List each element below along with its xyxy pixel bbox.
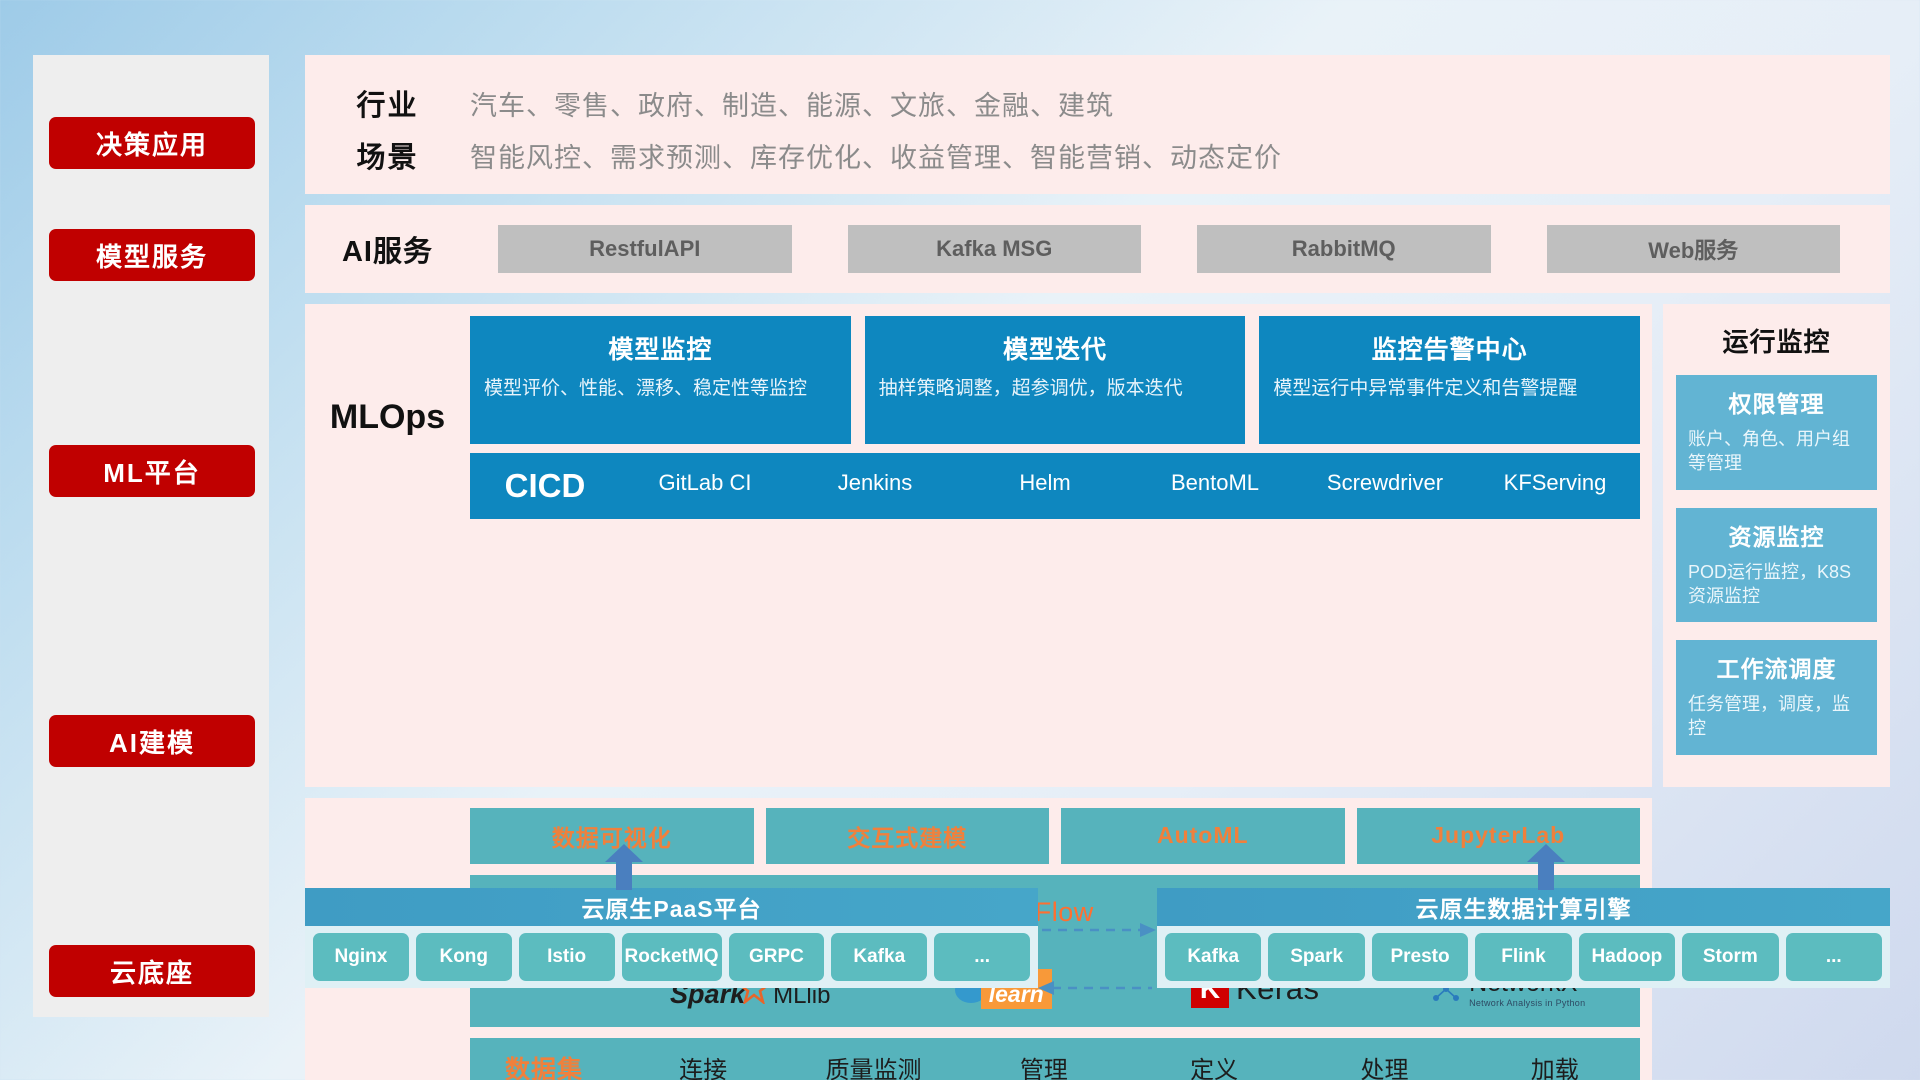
lab-tool-interactive-modeling[interactable]: 交互式建模 — [766, 808, 1050, 864]
ai-service-label: AI服务 — [305, 228, 470, 270]
industry-row: 行业 汽车、零售、政府、制造、能源、文旅、金融、建筑 — [305, 77, 1890, 129]
mlops-and-monitor-row: MLOps 模型监控 模型评价、性能、漂移、稳定性等监控 模型迭代 抽样策略调整… — [305, 304, 1890, 787]
cicd-title: CICD — [470, 453, 620, 519]
lab-tool-jupyterlab[interactable]: JupyterLab — [1357, 808, 1641, 864]
rail-label: 云底座 — [110, 953, 194, 990]
mlops-card-alert-center[interactable]: 监控告警中心 模型运行中异常事件定义和告警提醒 — [1259, 316, 1640, 444]
cloud-chip[interactable]: Kong — [416, 933, 512, 981]
ai-service-list: RestfulAPI Kafka MSG RabbitMQ Web服务 — [470, 225, 1890, 273]
dataset-title: 数据集 — [470, 1050, 618, 1080]
dataset-item[interactable]: 定义 — [1129, 1050, 1299, 1080]
rail-label: 模型服务 — [96, 237, 208, 274]
cloud-paas-title: 云原生PaaS平台 — [305, 888, 1038, 926]
card-desc: 抽样策略调整，超参调优，版本迭代 — [879, 376, 1232, 402]
bidirectional-connector — [1038, 910, 1156, 1020]
cloud-data-engine-title: 云原生数据计算引擎 — [1157, 888, 1890, 926]
cicd-item[interactable]: Helm — [960, 453, 1130, 497]
card-desc: 账户、角色、用户组等管理 — [1688, 427, 1865, 476]
card-desc: 任务管理，调度，监控 — [1688, 692, 1865, 741]
industry-label: 行业 — [305, 82, 470, 124]
rail-label: ML平台 — [103, 453, 201, 490]
mlops-band: MLOps 模型监控 模型评价、性能、漂移、稳定性等监控 模型迭代 抽样策略调整… — [305, 304, 1652, 787]
cloud-chip[interactable]: ... — [934, 933, 1030, 981]
cloud-chip[interactable]: ... — [1786, 933, 1882, 981]
cloud-chip[interactable]: Presto — [1372, 933, 1468, 981]
card-title: 监控告警中心 — [1273, 330, 1626, 366]
ai-service-chip[interactable]: RestfulAPI — [498, 225, 792, 273]
dataset-item[interactable]: 管理 — [959, 1050, 1129, 1080]
up-arrow-icon-left — [605, 844, 643, 890]
cloud-chip[interactable]: Flink — [1475, 933, 1571, 981]
dataset-bar: 数据集 连接 质量监测 管理 定义 处理 加载 — [470, 1038, 1640, 1080]
mlops-card-model-monitoring[interactable]: 模型监控 模型评价、性能、漂移、稳定性等监控 — [470, 316, 851, 444]
dataset-item[interactable]: 连接 — [618, 1050, 788, 1080]
cloud-chip[interactable]: Hadoop — [1579, 933, 1675, 981]
rail-label: 决策应用 — [96, 125, 208, 162]
card-desc: 模型评价、性能、漂移、稳定性等监控 — [484, 376, 837, 402]
cloud-chip[interactable]: Istio — [519, 933, 615, 981]
ml-lab-tool-list: 数据可视化 交互式建模 AutoML JupyterLab — [470, 808, 1640, 864]
ai-service-band: AI服务 RestfulAPI Kafka MSG RabbitMQ Web服务 — [305, 205, 1890, 293]
monitor-card-resource[interactable]: 资源监控 POD运行监控，K8S资源监控 — [1676, 508, 1877, 623]
scenario-label: 场景 — [305, 134, 470, 176]
cloud-chip[interactable]: GRPC — [729, 933, 825, 981]
band-divider — [305, 293, 1890, 304]
dataset-item[interactable]: 处理 — [1299, 1050, 1469, 1080]
cloud-data-engine-panel: 云原生数据计算引擎 Kafka Spark Presto Flink Hadoo… — [1157, 888, 1890, 1038]
monitor-card-workflow[interactable]: 工作流调度 任务管理，调度，监控 — [1676, 640, 1877, 755]
runtime-monitor-panel: 运行监控 权限管理 账户、角色、用户组等管理 资源监控 POD运行监控，K8S资… — [1663, 304, 1890, 787]
cicd-item[interactable]: Screwdriver — [1300, 453, 1470, 497]
lab-tool-automl[interactable]: AutoML — [1061, 808, 1345, 864]
card-title: 工作流调度 — [1688, 650, 1865, 684]
card-desc: POD运行监控，K8S资源监控 — [1688, 560, 1865, 609]
rail-item-model-service[interactable]: 模型服务 — [49, 229, 255, 281]
cloud-chip[interactable]: Spark — [1268, 933, 1364, 981]
cicd-item[interactable]: GitLab CI — [620, 453, 790, 497]
cloud-chip[interactable]: Storm — [1682, 933, 1778, 981]
rail-item-cloud-foundation[interactable]: 云底座 — [49, 945, 255, 997]
rail-label: AI建模 — [109, 723, 195, 760]
left-rail: 决策应用 模型服务 ML平台 AI建模 云底座 — [33, 55, 269, 1017]
card-title: 权限管理 — [1688, 385, 1865, 419]
cicd-item[interactable]: KFServing — [1470, 453, 1640, 497]
ai-service-chip[interactable]: Web服务 — [1547, 225, 1841, 273]
up-arrow-icon-right — [1527, 844, 1565, 890]
card-title: 模型迭代 — [879, 330, 1232, 366]
card-title: 资源监控 — [1688, 518, 1865, 552]
monitor-card-permission[interactable]: 权限管理 账户、角色、用户组等管理 — [1676, 375, 1877, 490]
cloud-paas-chip-list: Nginx Kong Istio RocketMQ GRPC Kafka ... — [305, 926, 1038, 988]
rail-item-ai-modeling[interactable]: AI建模 — [49, 715, 255, 767]
mlops-card-model-iteration[interactable]: 模型迭代 抽样策略调整，超参调优，版本迭代 — [865, 316, 1246, 444]
dataset-item[interactable]: 质量监测 — [788, 1050, 958, 1080]
rail-item-ml-platform[interactable]: ML平台 — [49, 445, 255, 497]
decision-apps-band: 行业 汽车、零售、政府、制造、能源、文旅、金融、建筑 场景 智能风控、需求预测、… — [305, 55, 1890, 194]
mlops-card-list: 模型监控 模型评价、性能、漂移、稳定性等监控 模型迭代 抽样策略调整，超参调优，… — [470, 316, 1640, 444]
industry-values: 汽车、零售、政府、制造、能源、文旅、金融、建筑 — [470, 84, 1114, 123]
card-desc: 模型运行中异常事件定义和告警提醒 — [1273, 376, 1626, 402]
cloud-chip[interactable]: Nginx — [313, 933, 409, 981]
ai-service-chip[interactable]: RabbitMQ — [1197, 225, 1491, 273]
cloud-paas-panel: 云原生PaaS平台 Nginx Kong Istio RocketMQ GRPC… — [305, 888, 1038, 1038]
ai-service-chip[interactable]: Kafka MSG — [848, 225, 1142, 273]
cloud-chip[interactable]: RocketMQ — [622, 933, 722, 981]
monitor-panel-title: 运行监控 — [1676, 314, 1877, 375]
mlops-label: MLOps — [305, 316, 470, 519]
cicd-bar: CICD GitLab CI Jenkins Helm BentoML Scre… — [470, 453, 1640, 519]
rail-item-decision-apps[interactable]: 决策应用 — [49, 117, 255, 169]
cicd-item[interactable]: Jenkins — [790, 453, 960, 497]
card-title: 模型监控 — [484, 330, 837, 366]
scenario-row: 场景 智能风控、需求预测、库存优化、收益管理、智能营销、动态定价 — [305, 129, 1890, 181]
band-divider — [305, 194, 1890, 205]
cloud-data-engine-chip-list: Kafka Spark Presto Flink Hadoop Storm ..… — [1157, 926, 1890, 988]
dataset-item[interactable]: 加载 — [1470, 1050, 1640, 1080]
cloud-chip[interactable]: Kafka — [1165, 933, 1261, 981]
cloud-chip[interactable]: Kafka — [831, 933, 927, 981]
cicd-item[interactable]: BentoML — [1130, 453, 1300, 497]
scenario-values: 智能风控、需求预测、库存优化、收益管理、智能营销、动态定价 — [470, 136, 1282, 175]
